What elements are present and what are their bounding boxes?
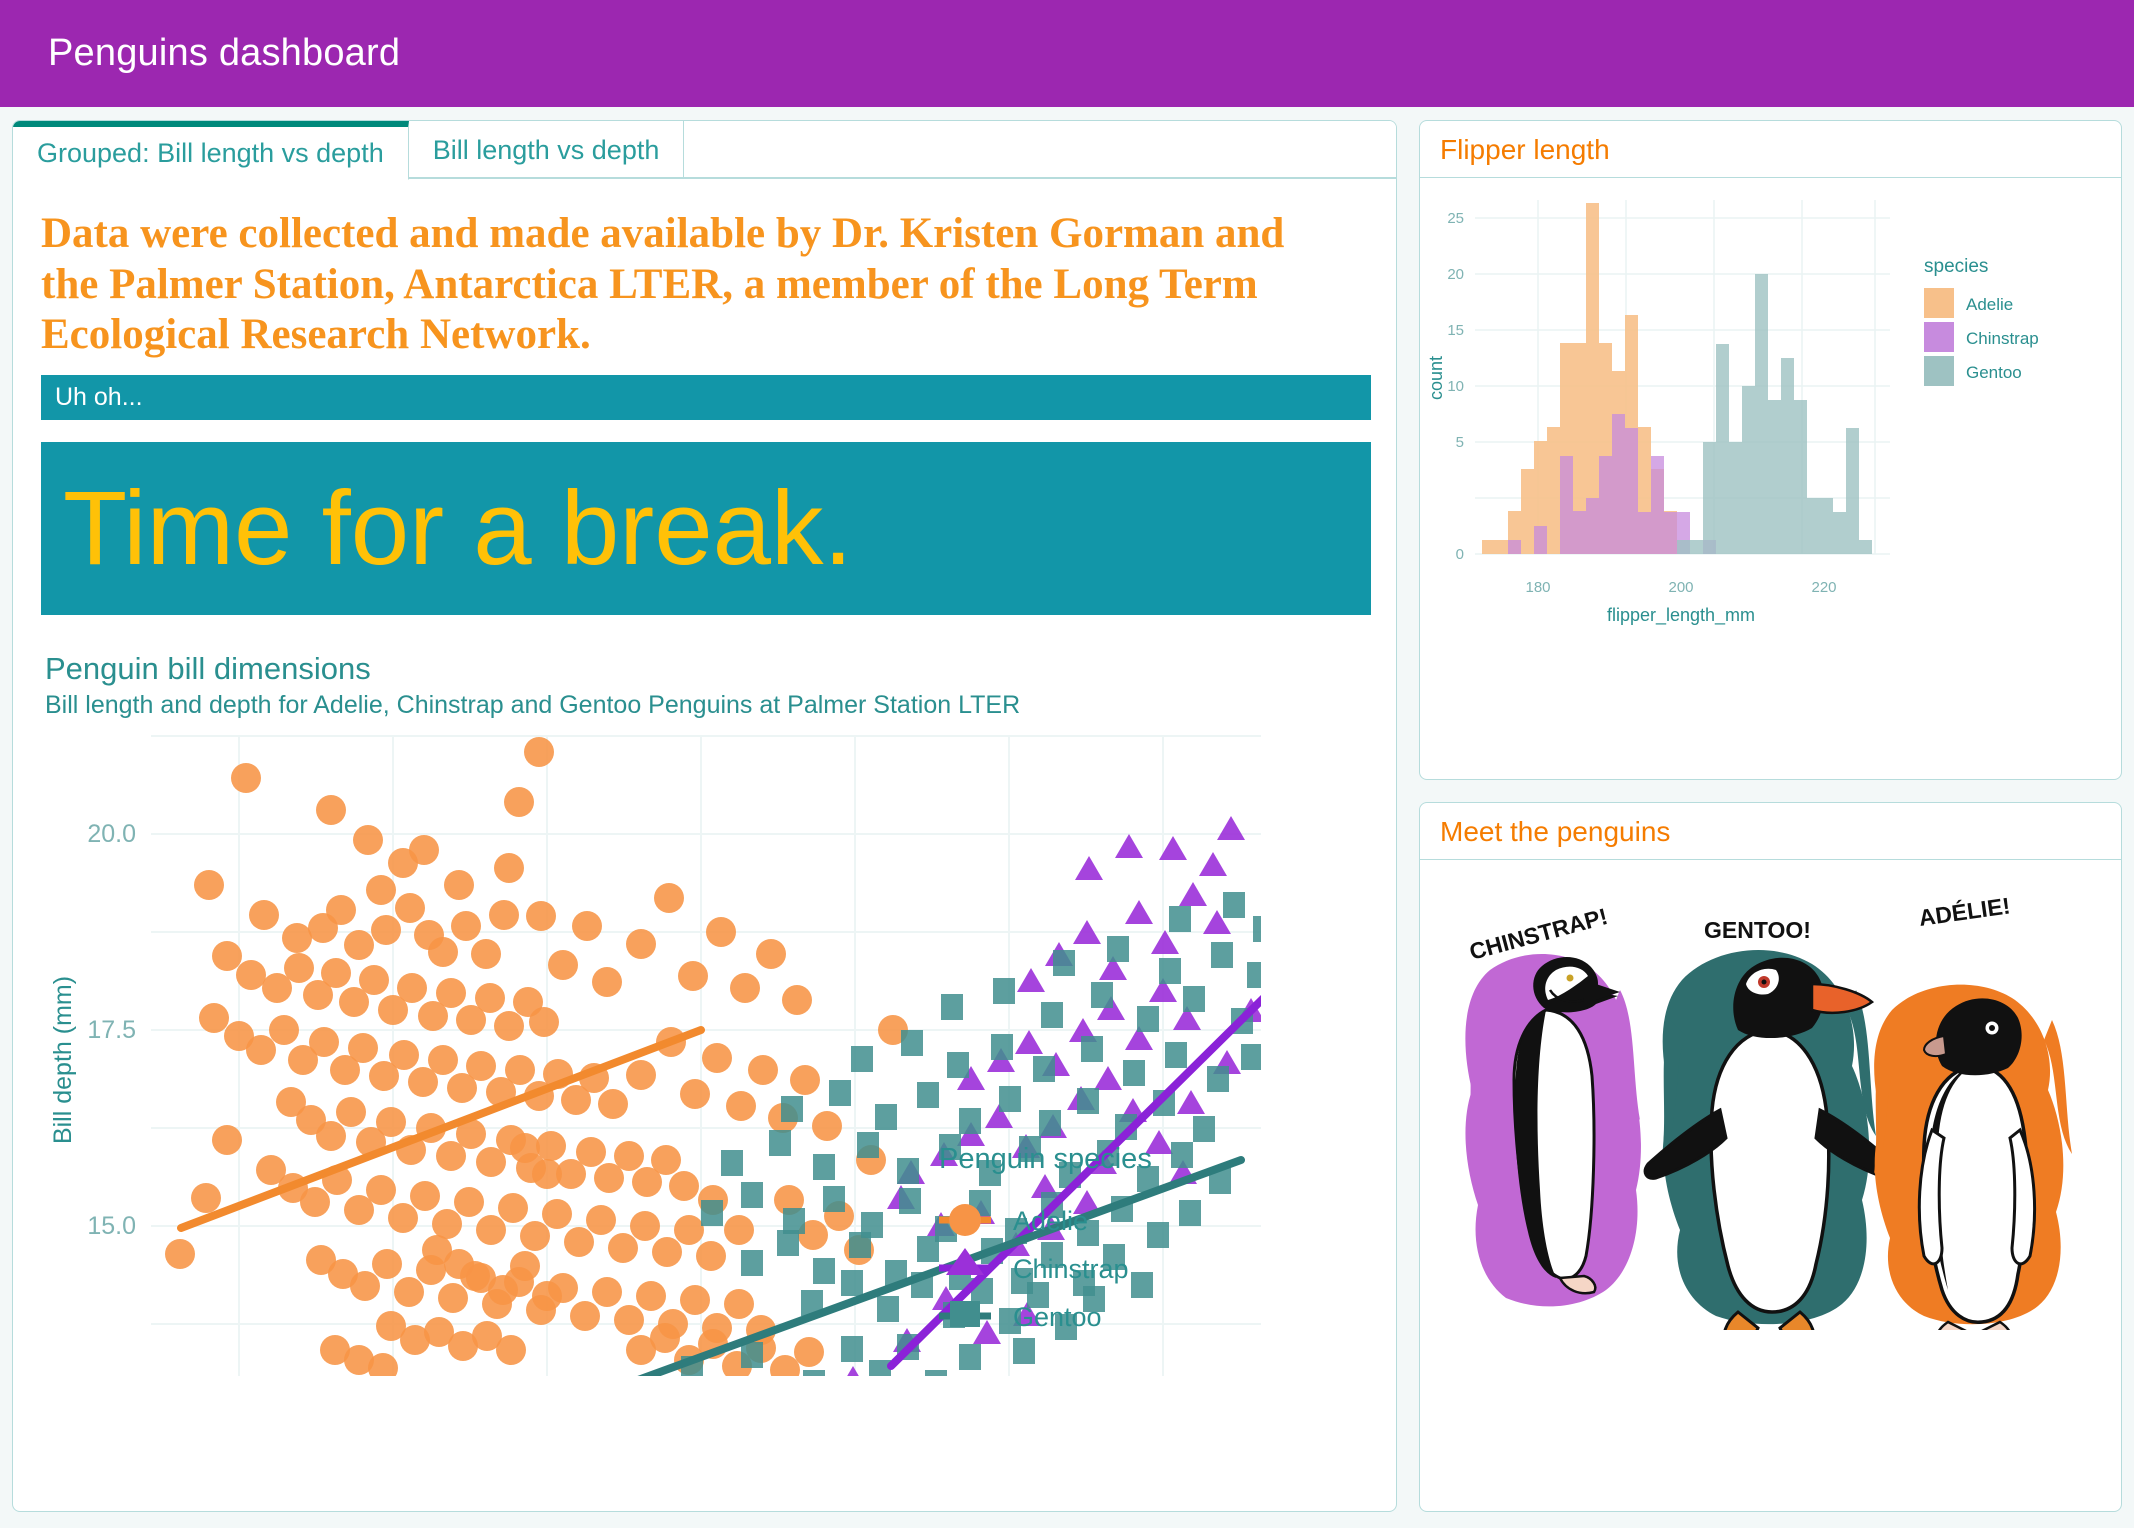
y-tick-label: 17.5 [87,1016,136,1044]
legend-label: Adelie [1013,1206,1088,1236]
y-tick-label: 25 [1447,210,1464,227]
histogram-x-axis-label: flipper_length_mm [1607,605,1755,626]
tab-grouped-bill-length-vs-depth[interactable]: Grouped: Bill length vs depth [13,121,409,180]
card-flipper-length-body: 25 20 15 10 5 0 180 200 22 [1420,178,2121,638]
card-flipper-length-header: Flipper length [1420,121,2121,178]
penguins-svg: CHINSTRAP! [1420,860,2110,1330]
penguin-label-adelie: ADÉLIE! [1917,891,2012,931]
histogram-legend: species Adelie Chinstrap [1924,256,2039,386]
histogram-x-ticks: 180 200 220 [1525,579,1836,596]
app-header: Penguins dashboard [0,0,2134,107]
dashboard-root: Penguins dashboard Grouped: Bill length … [0,0,2134,1528]
tab-strip: Grouped: Bill length vs depth Bill lengt… [13,121,1396,179]
card-title: Meet the penguins [1440,816,1670,847]
card-meet-the-penguins: Meet the penguins [1419,802,2122,1512]
legend-label: Adelie [1966,295,2013,314]
scatter-plot-svg: 20.0 17.5 15.0 Bill depth (mm) [41,730,1371,1430]
scatter-plot: 20.0 17.5 15.0 Bill depth (mm) [41,730,1371,1430]
penguin-label-gentoo: GENTOO! [1704,917,1811,943]
gentoo-belly [1711,1030,1829,1312]
data-credit-text: Data were collected and made available b… [41,209,1331,361]
penguin-chinstrap: CHINSTRAP! [1465,903,1641,1306]
histogram-y-ticks: 25 20 15 10 5 0 [1447,210,1464,563]
histogram-legend-item-chinstrap[interactable]: Chinstrap [1924,322,2039,352]
y-tick-label: 15.0 [87,1212,136,1240]
y-tick-label: 15 [1447,322,1464,339]
histogram-series-adelie [1482,203,1677,554]
histogram-series-gentoo [1677,274,1872,554]
y-tick-label: 20.0 [87,820,136,848]
histogram-legend-title: species [1924,256,1988,277]
penguin-gentoo: GENTOO! [1645,917,1897,1330]
status-banner-small-text: Uh oh... [55,383,143,411]
legend-label: Gentoo [1966,363,2022,382]
y-tick-label: 0 [1456,546,1464,563]
tab-card: Grouped: Bill length vs depth Bill lengt… [12,120,1397,1512]
tab-strip-filler [684,121,1396,178]
scatter-legend-item-adelie[interactable]: Adelie [939,1204,1088,1236]
page-title: Penguins dashboard [48,32,400,75]
left-column: Grouped: Bill length vs depth Bill lengt… [12,120,1397,1512]
tab-label: Grouped: Bill length vs depth [37,138,384,169]
histogram-plot: 25 20 15 10 5 0 180 200 22 [1420,178,2121,638]
y-tick-label: 10 [1447,378,1464,395]
histogram-y-axis-label: count [1426,356,1446,400]
right-column: Flipper length [1419,120,2122,1512]
scatter-plot-subtitle: Bill length and depth for Adelie, Chinst… [45,691,1368,720]
y-tick-label: 5 [1456,434,1464,451]
x-tick-label: 200 [1668,579,1693,596]
status-banner-large-text: Time for a break. [63,470,853,587]
y-tick-label: 20 [1447,266,1464,283]
scatter-y-axis-label: Bill depth (mm) [49,976,77,1144]
card-title: Flipper length [1440,134,1610,165]
legend-label: Chinstrap [1966,329,2039,348]
legend-label: Gentoo [1013,1302,1102,1332]
tab-bill-length-vs-depth[interactable]: Bill length vs depth [409,121,685,178]
tab-panel-grouped: Data were collected and made available b… [13,179,1396,1511]
scatter-plot-title: Penguin bill dimensions [45,651,1368,687]
legend-label: Chinstrap [1013,1254,1129,1284]
histogram-legend-item-adelie[interactable]: Adelie [1924,288,2013,318]
penguins-illustration: CHINSTRAP! [1420,860,2121,1330]
gentoo-beak [1812,984,1872,1013]
card-flipper-length: Flipper length [1419,120,2122,780]
scatter-points-layer [165,737,1347,1430]
card-meet-the-penguins-body: CHINSTRAP! [1420,860,2121,1330]
tab-label: Bill length vs depth [433,135,660,166]
status-banner-small: Uh oh... [41,375,1371,420]
status-banner-large: Time for a break. [41,442,1371,615]
x-tick-label: 180 [1525,579,1550,596]
histogram-svg: 25 20 15 10 5 0 180 200 22 [1420,178,2110,648]
scatter-legend-title: Penguin species [939,1143,1152,1175]
histogram-legend-item-gentoo[interactable]: Gentoo [1924,356,2022,386]
card-meet-the-penguins-header: Meet the penguins [1420,803,2121,860]
page-body: Grouped: Bill length vs depth Bill lengt… [0,107,2134,1528]
x-tick-label: 220 [1811,579,1836,596]
penguin-adelie: ADÉLIE! [1874,891,2072,1330]
scatter-y-ticks: 20.0 17.5 15.0 [87,820,136,1240]
